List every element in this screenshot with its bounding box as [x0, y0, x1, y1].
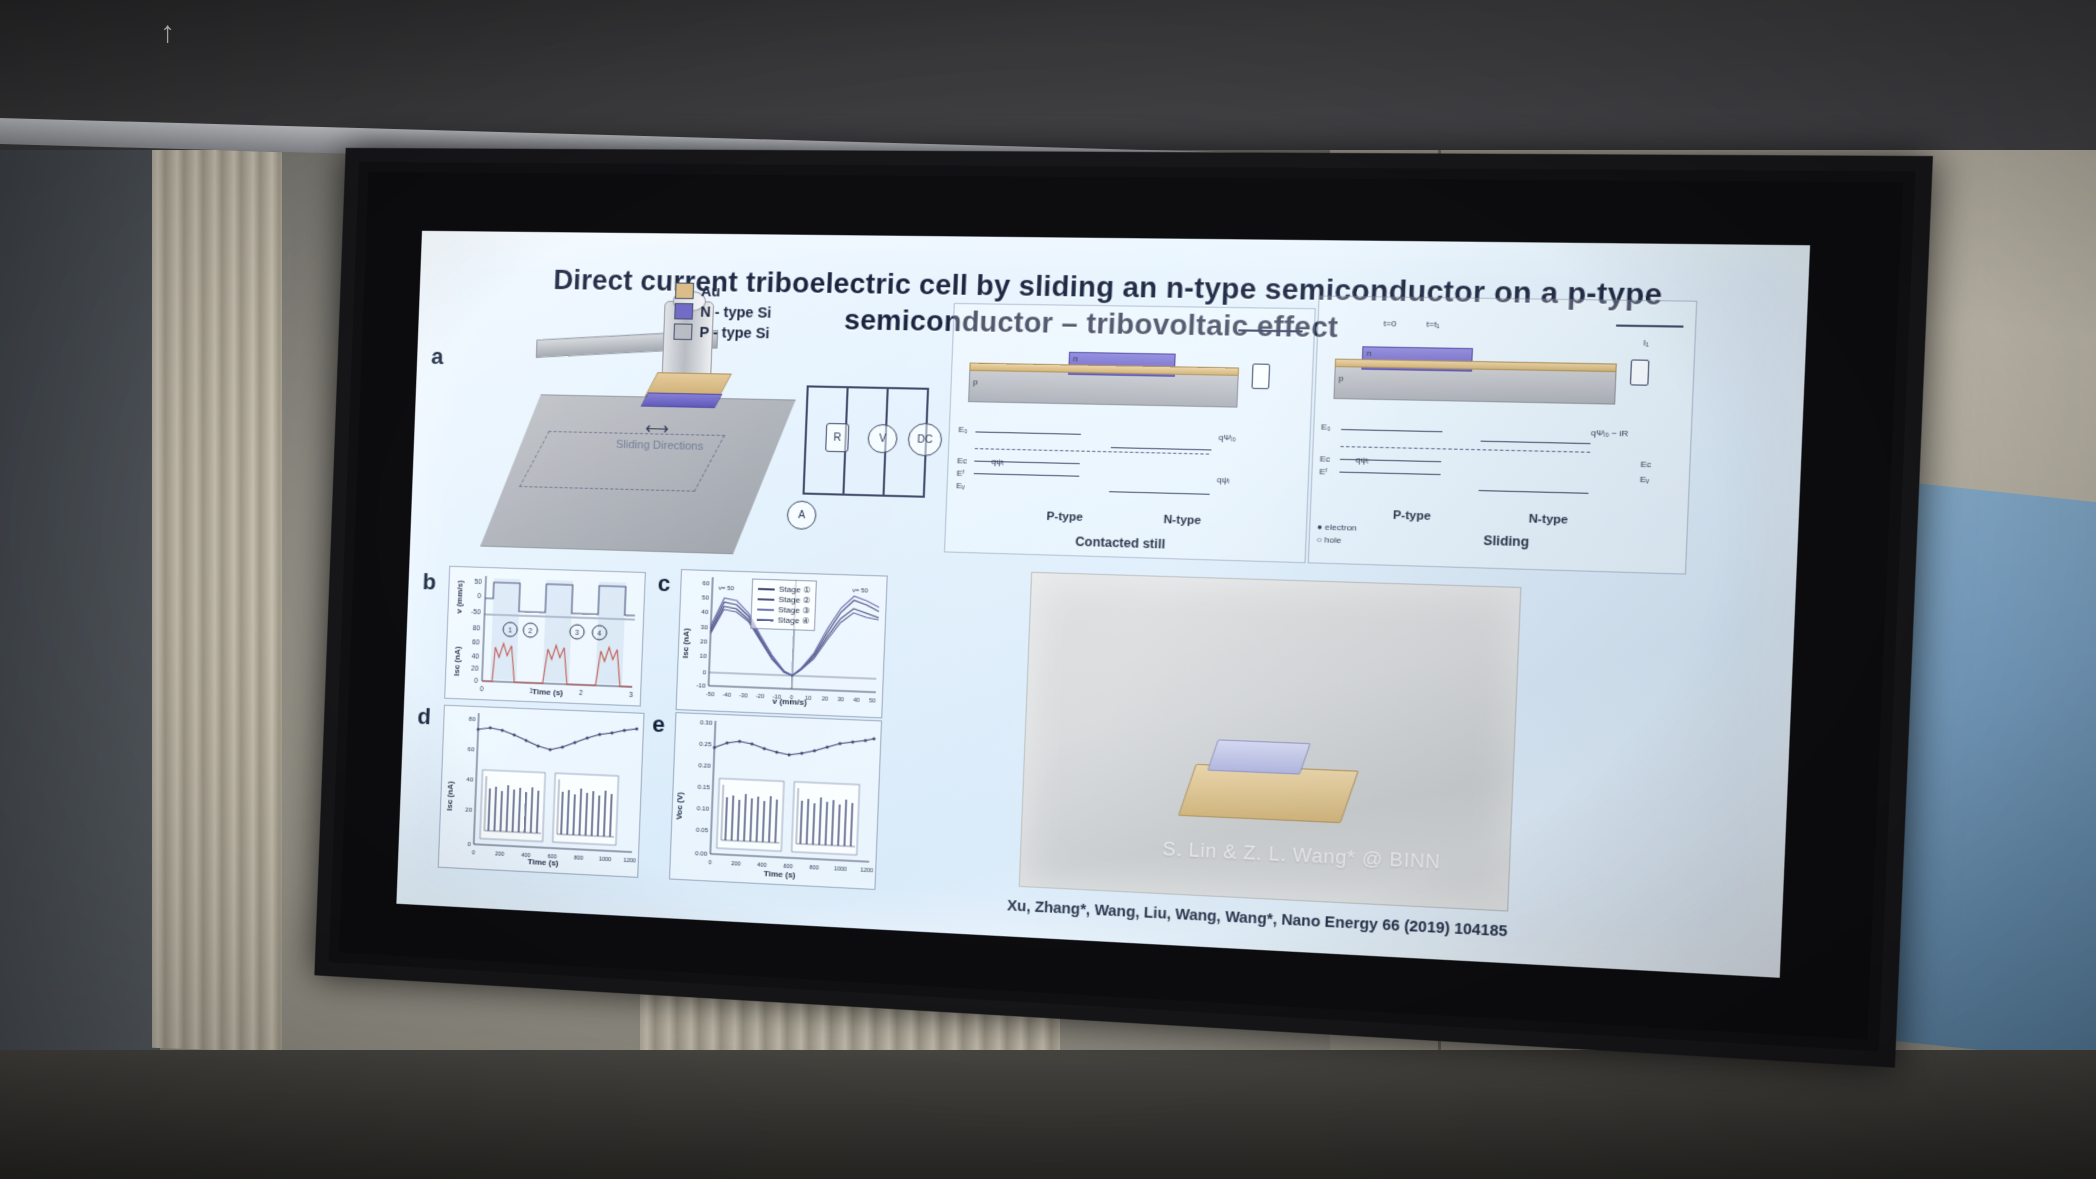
svg-text:20: 20: [471, 665, 479, 672]
svg-text:0: 0: [474, 678, 478, 685]
screen-frame: Direct current triboelectric cell by sli…: [314, 148, 1933, 1068]
svg-text:10: 10: [700, 654, 708, 660]
svg-text:800: 800: [574, 855, 584, 862]
band-p-type-caption: P-type: [1010, 510, 1119, 526]
svg-text:30: 30: [701, 625, 709, 631]
watermark-text: S. Lin & Z. L. Wang* @ BINN: [1118, 836, 1486, 876]
svg-text:1: 1: [508, 628, 512, 635]
svg-text:20: 20: [822, 696, 829, 702]
svg-text:1000: 1000: [834, 866, 847, 873]
svg-text:-50: -50: [706, 692, 714, 699]
svg-text:-40: -40: [723, 692, 731, 699]
circuit-voltmeter-V: V: [867, 424, 898, 454]
chart-c-inline-label-right: v= 50: [852, 588, 869, 595]
band-label-ev: Eᵥ: [956, 481, 965, 491]
circuit-dc-source: DC: [907, 423, 942, 457]
legend-item-au: Au: [675, 283, 773, 301]
sliding-direction-label: Sliding Directions: [616, 439, 704, 453]
svg-text:0.20: 0.20: [698, 763, 711, 770]
chart-c-ylabel: Isc (nA): [681, 628, 691, 658]
chart-b-xlabel: Time (s): [532, 687, 563, 697]
time-zero-label: t=0: [1383, 319, 1396, 329]
carrier-legend-electron: electron: [1325, 522, 1357, 532]
svg-text:20: 20: [465, 807, 473, 813]
p-label: p: [973, 377, 978, 386]
panel-letter-d: d: [417, 704, 431, 731]
svg-text:80: 80: [473, 625, 481, 632]
band-label-ev-right: Eᵥ: [1640, 475, 1650, 485]
band-label-ef: Eᶠ: [957, 468, 965, 478]
svg-text:200: 200: [495, 851, 504, 858]
schematic-circuit: R V DC A: [801, 385, 933, 522]
legend-swatch-psi: [673, 323, 692, 340]
svg-text:50: 50: [702, 595, 710, 601]
band-label-qpsi0: qΨᵢ₀: [1218, 433, 1236, 443]
svg-text:0.25: 0.25: [699, 742, 712, 749]
band-label-e0-2: E₀: [1321, 422, 1331, 432]
circuit-ammeter-A: A: [786, 500, 816, 530]
device-photo: S. Lin & Z. L. Wang* @ BINN: [1019, 572, 1522, 912]
floor-shadow: [0, 1050, 2096, 1179]
band-label-qpsi: qψᵢ: [991, 457, 1004, 467]
svg-text:0.30: 0.30: [700, 720, 713, 727]
svg-text:1000: 1000: [599, 857, 612, 864]
chart-d-plot: 80 60 40 20 0 0 200 400 600 800 1000 120…: [439, 706, 644, 877]
chart-panel-b: 1 2 3 4 50 0 -50 80 60 40 20 0 0 1: [444, 566, 646, 707]
chart-e-ylabel: Voc (V): [674, 792, 684, 820]
svg-text:20: 20: [700, 639, 708, 645]
band-diagram-contacted: p n E₀ Ec Eᶠ Eᵥ qψᵢ qΨᵢ₀: [944, 303, 1316, 563]
svg-text:50: 50: [474, 579, 482, 586]
svg-text:30: 30: [837, 697, 844, 703]
svg-text:40: 40: [853, 698, 860, 704]
svg-text:40: 40: [466, 777, 474, 783]
svg-text:200: 200: [731, 861, 741, 868]
svg-text:3: 3: [629, 692, 633, 699]
current-label: I₁: [1643, 338, 1649, 348]
svg-text:1200: 1200: [860, 867, 873, 874]
panel-letter-e: e: [652, 711, 666, 738]
legend-stage-3: Stage ③: [757, 604, 810, 615]
chart-c-inline-label-left: v= 50: [718, 586, 734, 593]
circuit-resistor-R: R: [825, 423, 849, 452]
legend-stage-2: Stage ②: [757, 594, 810, 605]
legend-label-psi: P - type Si: [699, 324, 770, 342]
svg-text:0: 0: [480, 686, 484, 693]
chart-b-plot: 1 2 3 4 50 0 -50 80 60 40 20 0 0 1: [445, 567, 645, 706]
svg-text:0.00: 0.00: [695, 851, 708, 858]
svg-text:-10: -10: [696, 683, 706, 690]
legend-item-nsi: N - type Si: [674, 303, 771, 321]
chart-e-plot: 0.30 0.25 0.20 0.15 0.10 0.05 0.00 0 200…: [670, 713, 881, 889]
band-diagram-caption-right: Sliding: [1426, 532, 1586, 552]
svg-text:40: 40: [701, 610, 709, 616]
screen-surface: Direct current triboelectric cell by sli…: [339, 172, 1903, 1040]
chart-b-ylabel: Isc (nA): [452, 646, 462, 676]
left-wall: [0, 140, 160, 1179]
time-t1-label: t=t₁: [1426, 319, 1440, 329]
legend-swatch-au: [675, 283, 694, 300]
svg-text:0: 0: [702, 670, 706, 676]
band-n-type-caption-2: N-type: [1491, 512, 1606, 528]
n-label-2: n: [1366, 348, 1371, 358]
n-label: n: [1073, 354, 1078, 364]
svg-text:3: 3: [575, 630, 579, 637]
svg-text:0: 0: [477, 593, 481, 600]
svg-text:40: 40: [472, 653, 480, 660]
band-diagram-sliding: p n t=0 t=t₁ I₁ E₀ Ec Eᶠ qψᵢ: [1308, 295, 1698, 574]
chart-panel-d: 80 60 40 20 0 0 200 400 600 800 1000 120…: [438, 705, 645, 878]
schematic-nsi-layer: [641, 392, 723, 408]
svg-text:-30: -30: [739, 693, 747, 700]
projection-screen: Direct current triboelectric cell by sli…: [314, 148, 1947, 1071]
band-label-e0: E₀: [958, 425, 968, 435]
svg-text:2: 2: [528, 629, 532, 636]
legend-item-psi: P - type Si: [673, 323, 770, 341]
legend-stage-1: Stage ①: [758, 584, 811, 595]
chart-c-legend: Stage ① Stage ② Stage ③ Stage ④: [750, 579, 817, 632]
p-label-2: p: [1338, 374, 1343, 384]
band-label-ec: Ec: [957, 456, 967, 466]
svg-text:1200: 1200: [623, 858, 636, 865]
legend-stage-4: Stage ④: [757, 615, 810, 626]
band-label-qpsi-2: qψᵢ: [1355, 455, 1368, 465]
svg-text:800: 800: [809, 865, 819, 872]
sliding-direction-arrow-icon: ⟷: [645, 423, 722, 437]
photo-chip: [1207, 739, 1311, 774]
ceiling-hook-icon: ↑: [160, 18, 186, 48]
chart-c-xlabel: v (mm/s): [772, 696, 807, 707]
material-legend: Au N - type Si P - type Si: [673, 283, 772, 346]
svg-text:0.05: 0.05: [696, 828, 709, 835]
photo-scene: ↑ Direct current triboelectric cell by s…: [0, 0, 2096, 1179]
panel-letter-c: c: [657, 570, 671, 597]
legend-label-au: Au: [701, 283, 721, 300]
svg-text:4: 4: [597, 631, 601, 638]
band-n-type-caption: N-type: [1127, 513, 1237, 529]
band-label-ec-right: Ec: [1640, 459, 1651, 469]
svg-text:60: 60: [472, 639, 480, 646]
legend-label-nsi: N - type Si: [700, 303, 772, 321]
legend-swatch-nsi: [674, 303, 693, 320]
chart-panel-c: 60 50 40 30 20 10 0 -10 -50 -40 -30 -20 …: [676, 569, 888, 718]
chart-d-xlabel: Time (s): [527, 857, 558, 868]
panel-letter-b: b: [422, 569, 436, 596]
band-label-qpsi0-ir: qΨᵢ₀ − iR: [1591, 428, 1629, 439]
curtain-left: [152, 148, 282, 1053]
panel-letter-a: a: [431, 344, 444, 370]
svg-text:0.10: 0.10: [697, 806, 710, 813]
band-diagram-caption-left: Contacted still: [1022, 533, 1219, 553]
svg-text:2: 2: [579, 690, 583, 697]
band-label-ef-2: Eᶠ: [1319, 467, 1327, 477]
chart-e-xlabel: Time (s): [763, 869, 795, 880]
band-label-ec-2: Ec: [1320, 454, 1331, 464]
chart-d-ylabel: Isc (nA): [445, 781, 455, 811]
svg-text:80: 80: [469, 717, 477, 723]
band-label-qpsi-right: qψᵢ: [1217, 475, 1230, 485]
svg-text:0: 0: [708, 860, 711, 866]
svg-text:60: 60: [468, 747, 476, 753]
svg-text:-50: -50: [471, 609, 481, 616]
svg-text:-20: -20: [756, 694, 765, 701]
chart-panel-e: 0.30 0.25 0.20 0.15 0.10 0.05 0.00 0 200…: [669, 712, 882, 890]
band-p-type-caption-2: P-type: [1355, 508, 1468, 524]
svg-text:0: 0: [467, 842, 471, 848]
chart-b-ylabel2: v (mm/s): [454, 580, 464, 613]
svg-text:60: 60: [702, 581, 710, 587]
svg-text:0: 0: [472, 850, 475, 856]
presentation-slide: Direct current triboelectric cell by sli…: [396, 231, 1810, 978]
carrier-legend-hole: hole: [1324, 535, 1341, 545]
svg-text:0.15: 0.15: [698, 785, 711, 792]
svg-text:50: 50: [869, 698, 876, 704]
